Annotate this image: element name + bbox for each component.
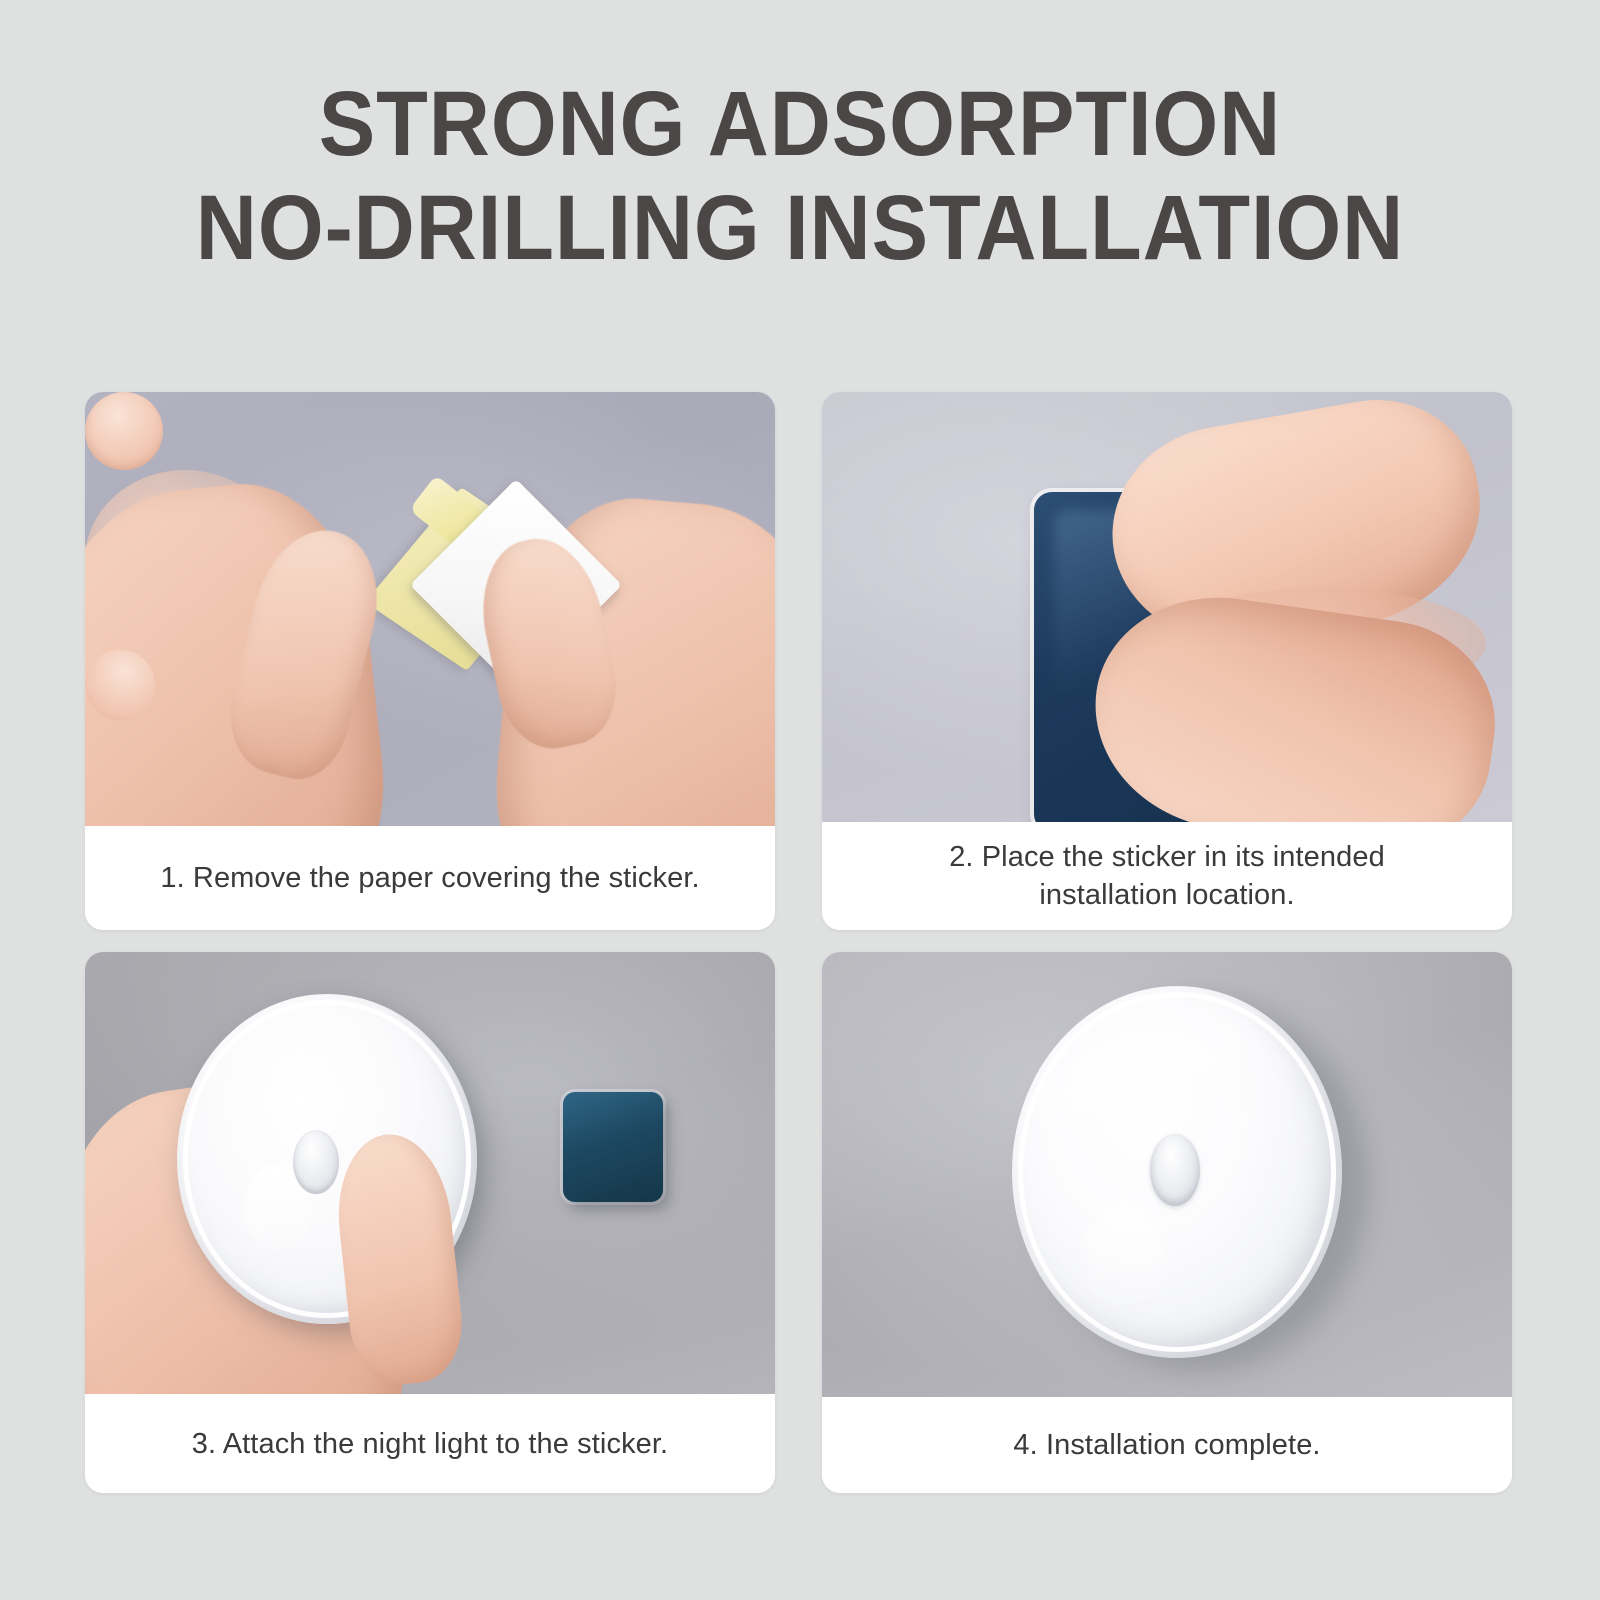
motion-sensor: [1150, 1134, 1200, 1206]
step-1-caption-line-1: 1. Remove the paper covering the sticker…: [160, 859, 699, 897]
step-1-photo: [85, 392, 775, 826]
step-2-caption-line-2: installation location.: [949, 876, 1385, 914]
step-3-caption-line-1: 3. Attach the night light to the sticker…: [192, 1425, 668, 1463]
headline-line-2: NO-DRILLING INSTALLATION: [64, 176, 1536, 280]
mounted-blue-sticker: [563, 1092, 663, 1202]
step-1-caption: 1. Remove the paper covering the sticker…: [85, 826, 775, 930]
installation-steps-grid: 1. Remove the paper covering the sticker…: [85, 392, 1515, 1493]
night-light-highlight-bottom: [1084, 1200, 1164, 1320]
step-2-caption-line-1: 2. Place the sticker in its intended: [949, 838, 1385, 876]
step-4-photo: [822, 952, 1512, 1397]
step-card-1: 1. Remove the paper covering the sticker…: [85, 392, 775, 930]
page-title: STRONG ADSORPTION NO-DRILLING INSTALLATI…: [0, 72, 1600, 280]
step-2-caption: 2. Place the sticker in its intended ins…: [822, 822, 1512, 930]
step-card-3: 3. Attach the night light to the sticker…: [85, 952, 775, 1493]
step-2-photo: [822, 392, 1512, 822]
step-3-photo: [85, 952, 775, 1394]
step-4-caption: 4. Installation complete.: [822, 1397, 1512, 1493]
step-3-caption: 3. Attach the night light to the sticker…: [85, 1394, 775, 1493]
step-card-4: 4. Installation complete.: [822, 952, 1512, 1493]
headline-line-1: STRONG ADSORPTION: [64, 72, 1536, 176]
step-card-2: 2. Place the sticker in its intended ins…: [822, 392, 1512, 930]
motion-sensor: [293, 1130, 339, 1194]
step-4-caption-line-1: 4. Installation complete.: [1013, 1426, 1320, 1464]
